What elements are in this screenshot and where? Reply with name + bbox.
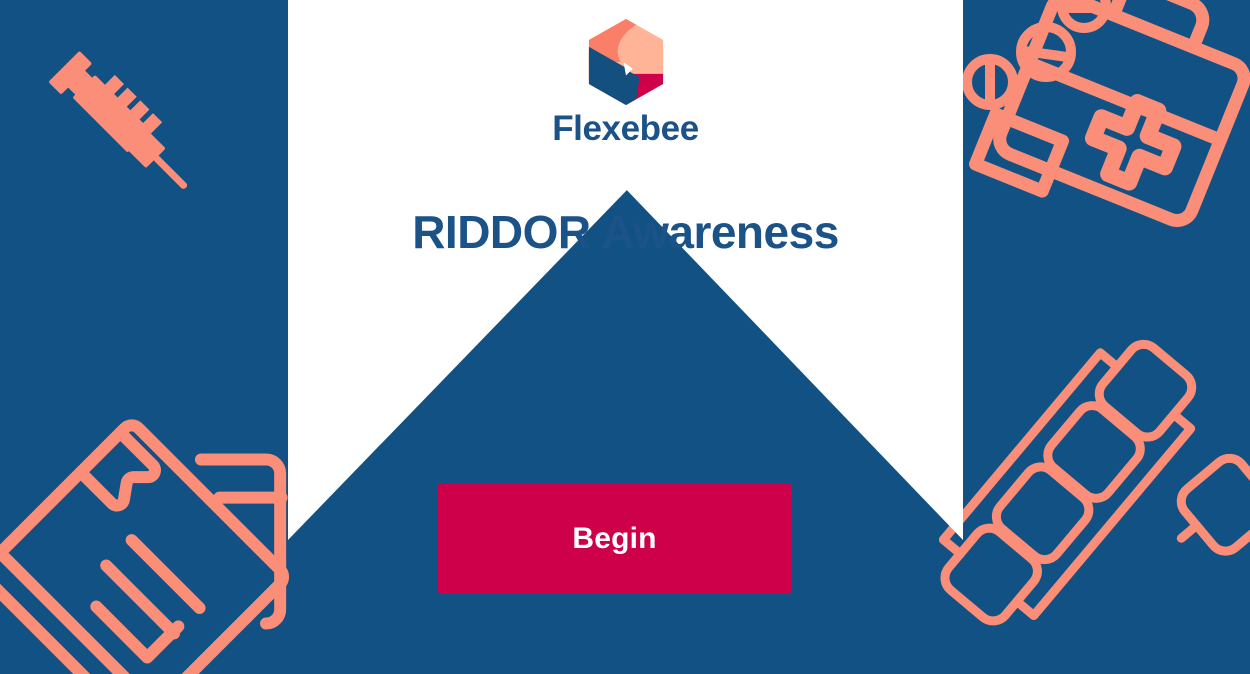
- pill-tablet-icon: [962, 10, 1092, 130]
- flexebee-hexagon-logo-icon: [583, 18, 669, 106]
- brand-wordmark: Flexebee: [552, 111, 699, 146]
- course-launch-screen: Flexebee RIDDOR Awareness Begin: [0, 0, 1250, 674]
- blister-pack-icon: [975, 378, 1250, 674]
- notebook-pen-icon: [0, 402, 320, 674]
- brand-logo: Flexebee: [288, 18, 963, 146]
- page-title: RIDDOR Awareness: [288, 206, 963, 259]
- syringe-icon: [0, 0, 232, 226]
- begin-button[interactable]: Begin: [437, 483, 792, 594]
- medical-kit-icon: [962, 0, 1250, 280]
